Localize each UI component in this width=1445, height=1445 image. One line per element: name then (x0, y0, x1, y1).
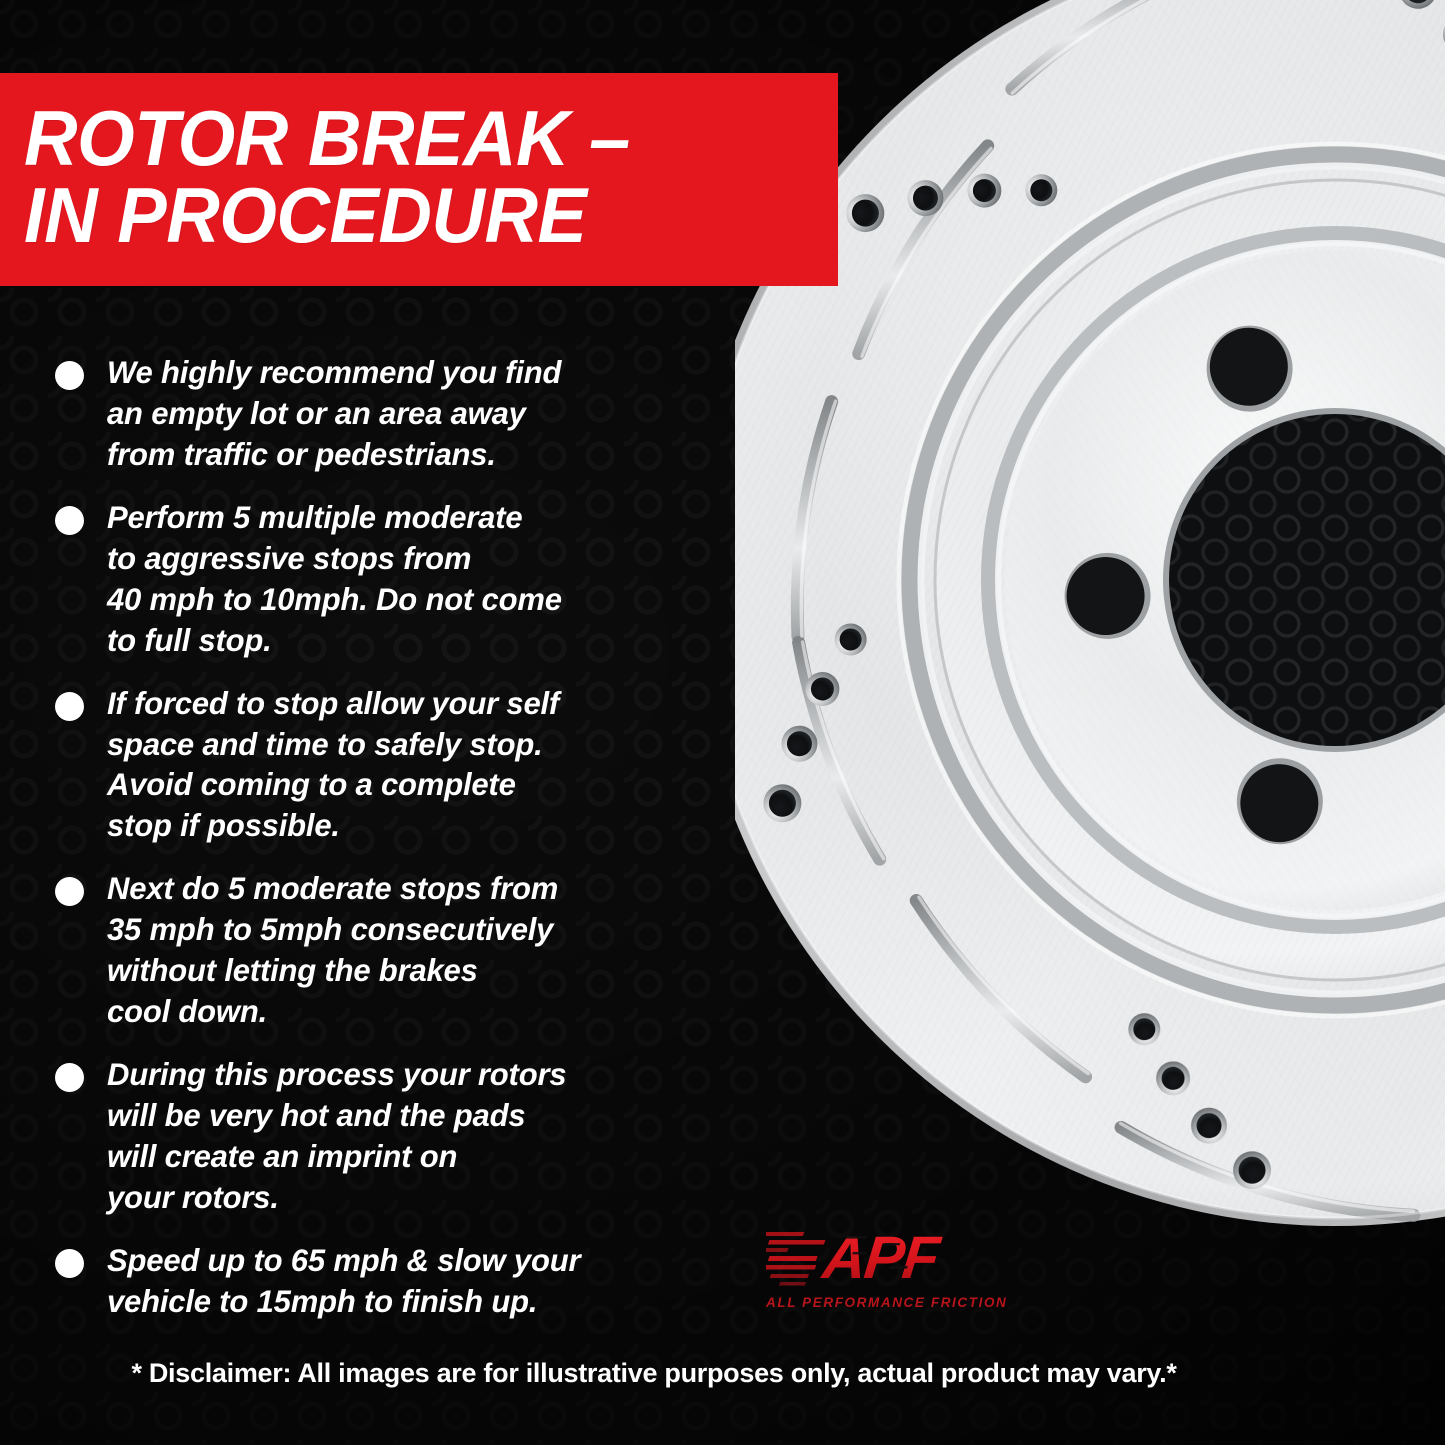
list-item: We highly recommend you find an empty lo… (0, 352, 760, 475)
list-item-label: We highly recommend you find an empty lo… (107, 352, 561, 475)
page-title-line-1: ROTOR BREAK – (24, 100, 797, 176)
page-title-banner: ROTOR BREAK – IN PROCEDURE (0, 73, 838, 286)
apf-tagline: ALL PERFORMANCE FRICTION (766, 1295, 986, 1310)
bullet-dot-icon (55, 506, 84, 535)
procedure-steps-list: We highly recommend you find an empty lo… (0, 352, 760, 1344)
list-item: Speed up to 65 mph & slow your vehicle t… (0, 1240, 760, 1322)
bullet-dot-icon (55, 1249, 84, 1278)
rotor-break-in-infographic: ROTOR BREAK – IN PROCEDURE We highly rec… (0, 0, 1445, 1445)
page-title-line-2: IN PROCEDURE (24, 177, 797, 253)
svg-text:APF: APF (818, 1224, 945, 1291)
apf-wordmark-icon: APF (766, 1222, 986, 1294)
brake-rotor-image (735, 0, 1445, 1280)
list-item-label: If forced to stop allow your self space … (107, 683, 559, 847)
list-item-label: Speed up to 65 mph & slow your vehicle t… (107, 1240, 580, 1322)
list-item: During this process your rotors will be … (0, 1054, 760, 1218)
list-item: If forced to stop allow your self space … (0, 683, 760, 847)
list-item: Next do 5 moderate stops from 35 mph to … (0, 868, 760, 1032)
bullet-dot-icon (55, 1063, 84, 1092)
list-item-label: Perform 5 multiple moderate to aggressiv… (107, 497, 562, 661)
bullet-dot-icon (55, 361, 84, 390)
disclaimer-text: * Disclaimer: All images are for illustr… (0, 1358, 1308, 1389)
bullet-dot-icon (55, 877, 84, 906)
list-item-label: During this process your rotors will be … (107, 1054, 566, 1218)
list-item: Perform 5 multiple moderate to aggressiv… (0, 497, 760, 661)
bullet-dot-icon (55, 692, 84, 721)
apf-logo: APF ALL PERFORMANCE FRICTION (766, 1222, 986, 1322)
list-item-label: Next do 5 moderate stops from 35 mph to … (107, 868, 558, 1032)
